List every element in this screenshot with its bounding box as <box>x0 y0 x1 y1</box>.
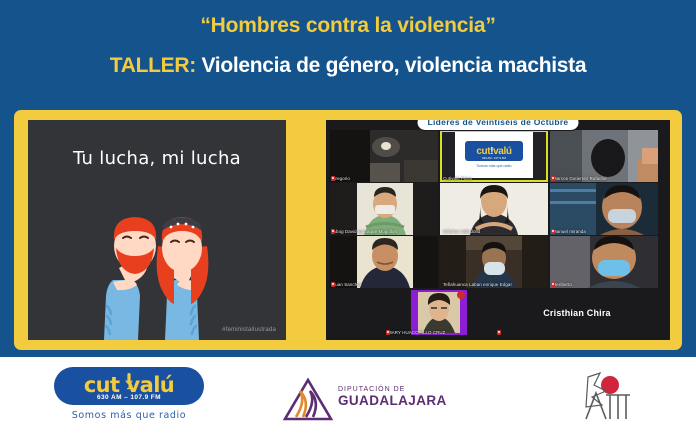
mic-muted-icon <box>551 176 555 181</box>
video-feed-icon <box>550 236 658 288</box>
cutivalu-slogan: Somos más que radio <box>44 410 214 421</box>
page-title: “Hombres contra la violencia” <box>0 14 696 38</box>
diputacion-mark-icon <box>282 377 334 421</box>
participant-tile[interactable]: Juan Sanchez <box>330 236 438 288</box>
zoom-meeting-screenshot: Líderes de Veintiséis de Octubre gregori… <box>326 120 670 340</box>
video-feed-icon <box>550 183 658 235</box>
meeting-title-banner: Líderes de Veintiséis de Octubre <box>417 120 580 131</box>
participant-tile-audio-only[interactable]: Cristhian Chira <box>496 289 658 336</box>
video-feed-icon <box>330 130 438 182</box>
diputacion-guadalajara-logo: DIPUTACIÓN DE GUADALAJARA <box>282 377 432 423</box>
aieti-logo <box>566 371 646 423</box>
participant-grid: gregorio cut!valú630 AM - 107.9 FM Somos… <box>330 130 666 336</box>
video-feed-icon <box>440 183 548 235</box>
diputacion-line2: GUADALAJARA <box>338 393 447 408</box>
video-feed-icon <box>385 289 493 336</box>
diputacion-line1: DIPUTACIÓN DE <box>338 386 447 393</box>
participant-name: MARY HUACCHILLO CRUZ <box>388 330 445 335</box>
cutivalu-mini-logo-icon: cut!valú630 AM - 107.9 FM <box>465 141 523 161</box>
participant-tile[interactable]: Orfelina Valladolid <box>440 183 548 235</box>
participant-name: Cristhian Chira <box>543 308 611 318</box>
footer-logos: cut|valú 630 AM – 107.9 FM Somos más que… <box>0 357 696 435</box>
poster-root: “Hombres contra la violencia” TALLER: Vi… <box>0 0 696 435</box>
participant-name: Marcos Gutierrez Rufache <box>553 176 607 181</box>
participant-name: Juan Sanchez <box>333 282 362 287</box>
shared-logo-slide: cut!valú630 AM - 107.9 FM Somos más que … <box>455 132 533 178</box>
video-feed-icon <box>330 183 438 235</box>
video-feed-icon <box>550 130 658 182</box>
participant-tile[interactable]: Abog David Ipanaque Mogollon <box>330 183 438 235</box>
subtitle-rest: Violencia de género, violencia machista <box>196 54 586 77</box>
participant-name: gregorio <box>333 176 350 181</box>
cutivalu-badge: cut|valú 630 AM – 107.9 FM <box>54 367 204 405</box>
cutivalu-logo: cut|valú 630 AM – 107.9 FM Somos más que… <box>44 367 214 421</box>
participant-name: Heriberto <box>553 282 572 287</box>
illustration-hashtag: #feministailustrada <box>222 327 276 333</box>
participant-name: Orfelina Valladolid <box>443 229 480 234</box>
mic-muted-icon <box>551 282 555 287</box>
diputacion-wordmark: DIPUTACIÓN DE GUADALAJARA <box>338 386 447 408</box>
participant-name: Abog David Ipanaque Mogollon <box>333 229 397 234</box>
mic-muted-icon <box>497 330 501 335</box>
mic-muted-icon <box>331 229 335 234</box>
mic-muted-icon <box>386 330 390 335</box>
microphone-icon <box>125 372 133 394</box>
video-feed-icon <box>330 236 438 288</box>
participant-name: Manuel miranda <box>553 229 586 234</box>
participant-tile[interactable]: Heriberto <box>550 236 658 288</box>
mic-muted-icon <box>331 282 335 287</box>
page-subtitle: TALLER: Violencia de género, violencia m… <box>0 54 696 78</box>
mic-muted-icon <box>331 176 335 181</box>
participant-name: Tefiahuanca Laban enrique Edgar <box>443 282 512 287</box>
illustration-caption: Tu lucha, mi lucha <box>28 148 286 169</box>
video-feed-icon <box>440 236 548 288</box>
subtitle-lead: TALLER: <box>110 54 196 77</box>
participant-tile[interactable]: MARY HUACCHILLO CRUZ <box>385 289 493 336</box>
hero-banner: “Hombres contra la violencia” TALLER: Vi… <box>0 0 696 357</box>
illustration-card: Tu lucha, mi lucha <box>28 120 286 340</box>
participant-tile[interactable]: gregorio <box>330 130 438 182</box>
aieti-dot-icon <box>601 376 619 394</box>
cutivalu-mini-slogan: Somos más que radio <box>477 164 512 168</box>
participant-tile[interactable]: Manuel miranda <box>550 183 658 235</box>
participant-name: Cutivalu Piura <box>443 176 472 181</box>
participant-tile-active[interactable]: cut!valú630 AM - 107.9 FM Somos más que … <box>440 130 548 182</box>
cutivalu-frequencies: 630 AM – 107.9 FM <box>54 394 204 401</box>
mic-muted-icon <box>551 229 555 234</box>
participant-tile[interactable]: Marcos Gutierrez Rufache <box>550 130 658 182</box>
participant-tile[interactable]: Tefiahuanca Laban enrique Edgar <box>440 236 548 288</box>
couple-illustration-icon <box>83 188 233 340</box>
